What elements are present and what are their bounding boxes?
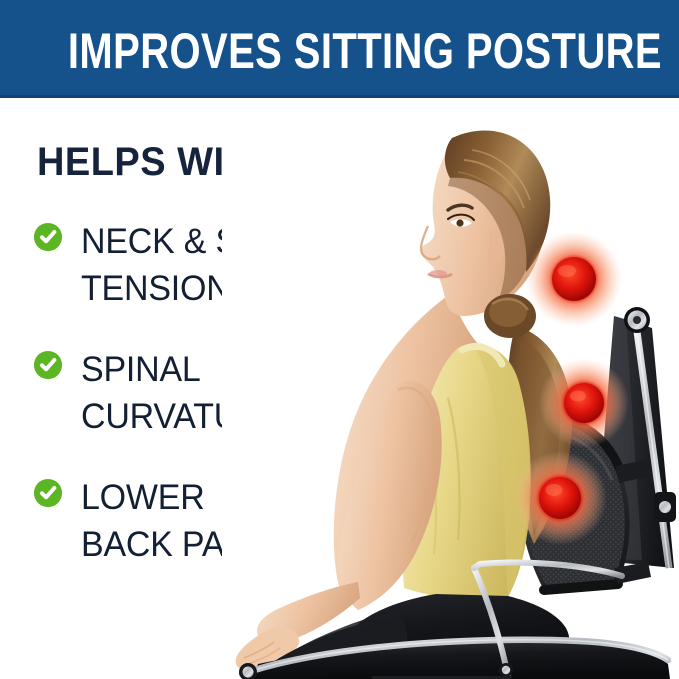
photo-illustration — [222, 98, 679, 679]
banner-title: IMPROVES SITTING POSTURE — [68, 26, 611, 76]
check-circle-icon — [33, 478, 63, 508]
check-circle-icon — [33, 222, 63, 252]
check-circle-icon — [33, 350, 63, 380]
header-banner: IMPROVES SITTING POSTURE — [0, 0, 679, 98]
neck-shoulder-hotspot — [526, 231, 622, 327]
product-feature-image: IMPROVES SITTING POSTURE HELPS WITH: NEC… — [0, 0, 679, 679]
lower-back-hotspot — [513, 451, 607, 545]
mid-back-hotspot — [539, 358, 629, 448]
product-photo — [222, 98, 679, 679]
